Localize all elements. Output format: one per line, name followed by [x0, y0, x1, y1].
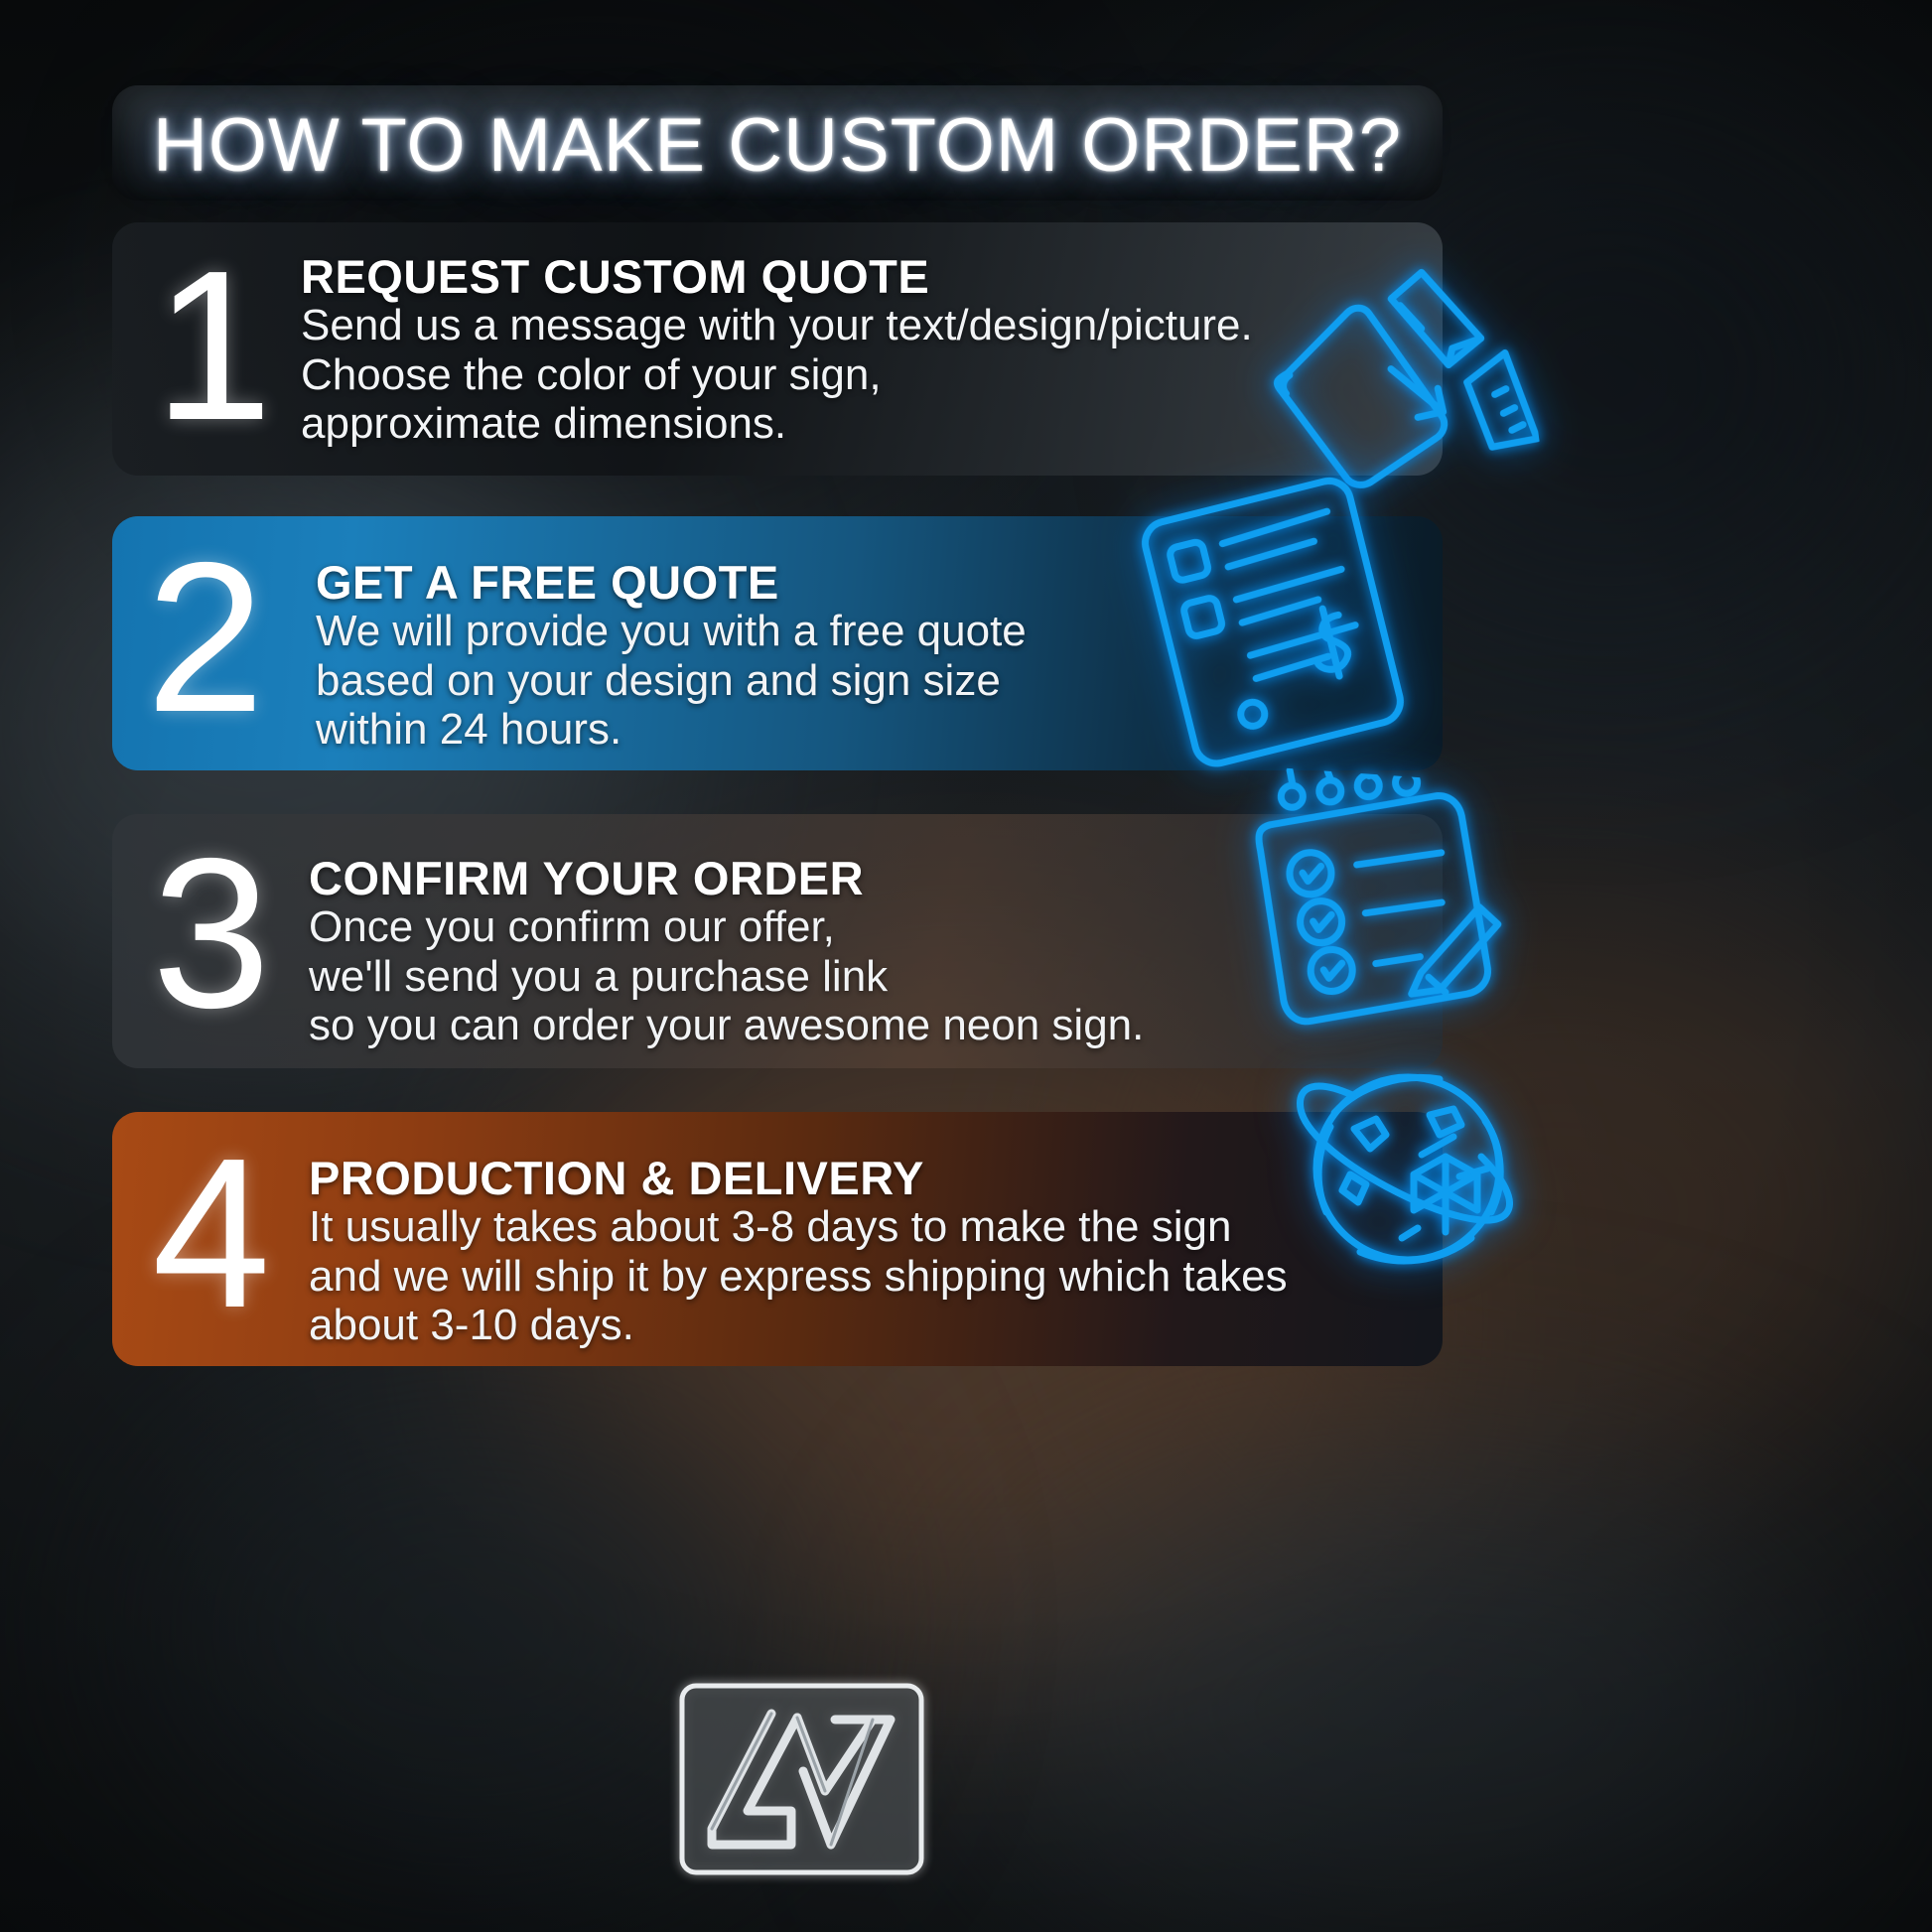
step-body-line: based on your design and sign size: [316, 656, 1027, 705]
step-body-line: so you can order your awesome neon sign.: [309, 1001, 1144, 1049]
page-title: HOW TO MAKE CUSTOM ORDER?: [112, 87, 1443, 203]
step-card-4: 4 PRODUCTION & DELIVERY It usually takes…: [112, 1112, 1443, 1366]
step-body-line: Once you confirm our offer,: [309, 902, 1144, 951]
step-body-2: We will provide you with a free quote ba…: [316, 607, 1027, 754]
step-body-line: We will provide you with a free quote: [316, 607, 1027, 655]
step-body-4: It usually takes about 3-8 days to make …: [309, 1202, 1288, 1349]
step-number-1: 1: [154, 238, 273, 452]
step-body-line: It usually takes about 3-8 days to make …: [309, 1202, 1288, 1251]
step-heading-3: CONFIRM YOUR ORDER: [309, 854, 1144, 902]
neon-brand-monogram-logo: [676, 1680, 927, 1878]
infographic-canvas: HOW TO MAKE CUSTOM ORDER? 1 REQUEST CUST…: [0, 0, 1932, 1932]
step-body-line: Choose the color of your sign,: [301, 350, 1253, 399]
step-number-4: 4: [152, 1126, 271, 1339]
step-body-line: we'll send you a purchase link: [309, 952, 1144, 1001]
step-number-3: 3: [152, 826, 271, 1039]
step-body-line: about 3-10 days.: [309, 1301, 1288, 1349]
step-body-line: Send us a message with your text/design/…: [301, 301, 1253, 349]
step-body-1: Send us a message with your text/design/…: [301, 301, 1253, 448]
step-body-line: and we will ship it by express shipping …: [309, 1252, 1288, 1301]
step-heading-1: REQUEST CUSTOM QUOTE: [301, 252, 1253, 301]
step-heading-2: GET A FREE QUOTE: [316, 558, 1027, 607]
step-body-line: approximate dimensions.: [301, 399, 1253, 448]
step-card-1: 1 REQUEST CUSTOM QUOTE Send us a message…: [112, 222, 1443, 476]
step-number-2: 2: [146, 530, 265, 744]
step-body-3: Once you confirm our offer, we'll send y…: [309, 902, 1144, 1049]
step-heading-4: PRODUCTION & DELIVERY: [309, 1154, 1288, 1202]
step-body-line: within 24 hours.: [316, 705, 1027, 754]
globe-shipping-boxes-icon: [1291, 1057, 1539, 1286]
checklist-clipboard-pen-icon: [1222, 765, 1517, 1042]
